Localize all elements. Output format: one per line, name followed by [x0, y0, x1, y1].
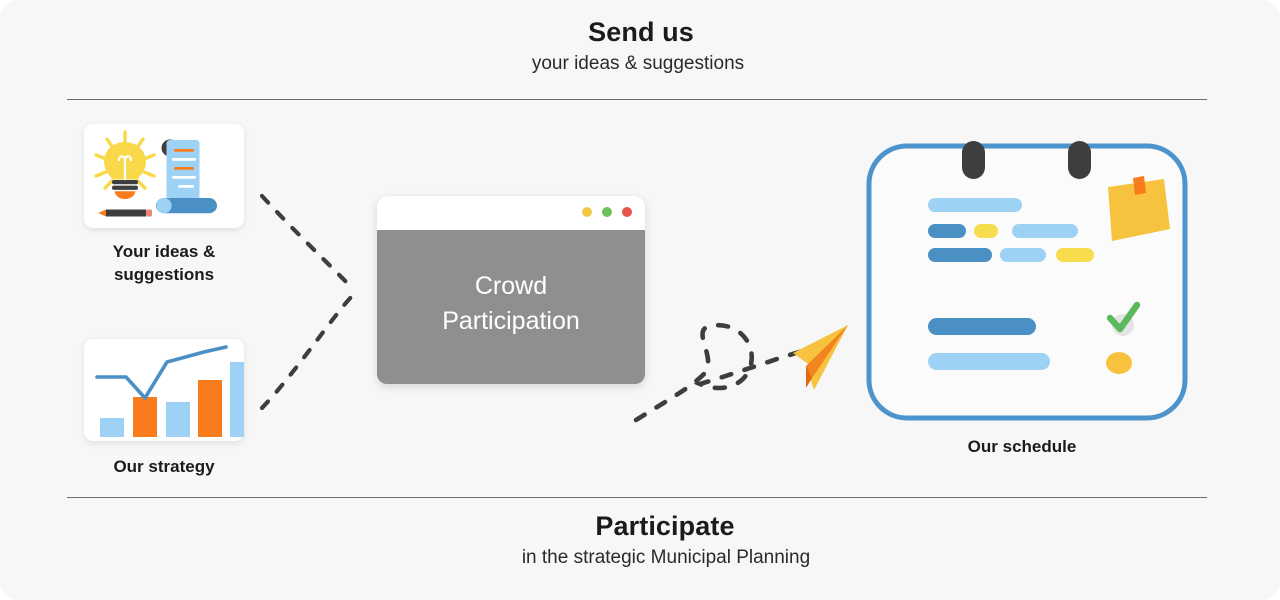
check-icon: [1110, 305, 1137, 329]
footer-subtitle: in the strategic Municipal Planning: [52, 544, 1280, 572]
bar-chart-trendline-icon: [84, 339, 244, 441]
browser-headline-line1: Crowd: [442, 269, 580, 304]
dashed-looping-path-to-plane: [636, 325, 806, 420]
divider-top: [67, 99, 1207, 100]
lightbulb-scroll-pencil-icon: [84, 124, 244, 228]
header-block: Send us your ideas & suggestions: [0, 14, 1280, 78]
card-label-our-schedule: Our schedule: [907, 437, 1137, 457]
card-your-ideas[interactable]: [84, 124, 244, 228]
footer-title: Participate: [50, 508, 1280, 544]
card-our-strategy[interactable]: [84, 339, 244, 441]
clipboard-clip-right: [1068, 141, 1091, 179]
paper-plane-icon: [793, 325, 848, 390]
sticky-note: [1108, 179, 1170, 241]
page-title: Send us: [2, 14, 1280, 50]
footer-block: Participate in the strategic Municipal P…: [0, 508, 1280, 572]
infographic-canvas: Send us your ideas & suggestions Partici…: [0, 0, 1280, 600]
page-subtitle: your ideas & suggestions: [0, 50, 1280, 78]
browser-viewport: Crowd Participation: [377, 230, 645, 384]
pending-status-dot: [1106, 352, 1132, 374]
check-shadow: [1112, 314, 1134, 336]
card-label-line1: Our strategy: [49, 455, 279, 478]
dashed-line-strategy-to-window: [262, 296, 352, 408]
sticky-note-tape: [1133, 176, 1146, 195]
clipboard-board: [869, 146, 1185, 418]
clipboard-clip-left: [962, 141, 985, 179]
clipboard-schedule-icon: [869, 141, 1185, 418]
divider-bottom: [67, 497, 1207, 498]
card-label-line2: suggestions: [49, 263, 279, 286]
browser-window[interactable]: Crowd Participation: [377, 196, 645, 384]
window-close-dot-icon[interactable]: [622, 207, 632, 217]
card-label-our-strategy: Our strategy: [49, 455, 279, 478]
window-minimize-dot-icon[interactable]: [582, 207, 592, 217]
card-label-your-ideas: Your ideas & suggestions: [49, 240, 279, 286]
card-label-line1: Your ideas &: [49, 240, 279, 263]
browser-title-bar: [377, 196, 645, 230]
window-maximize-dot-icon[interactable]: [602, 207, 612, 217]
browser-headline-line2: Participation: [442, 304, 580, 339]
browser-headline: Crowd Participation: [442, 269, 580, 345]
